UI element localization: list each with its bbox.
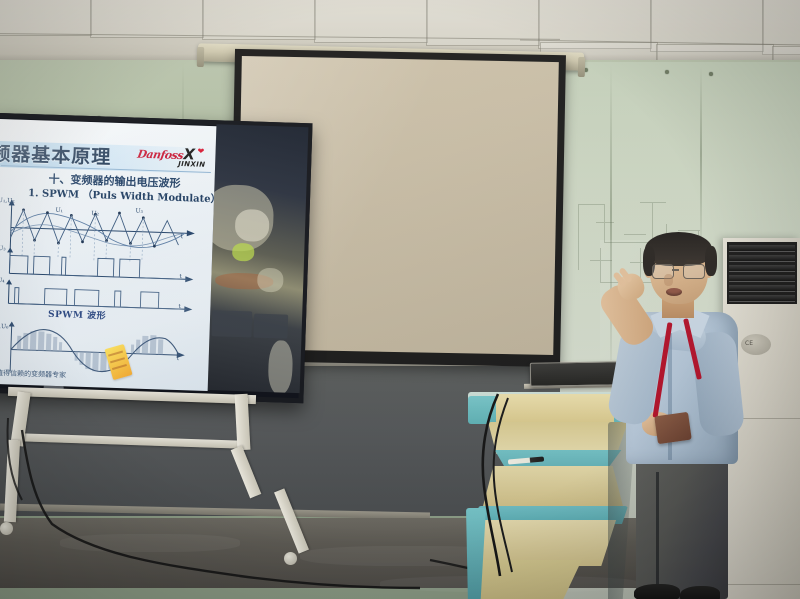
spwm-lower-pulse-chart <box>0 279 216 318</box>
caster-wheel-right <box>284 552 297 565</box>
wave-mark-1: U₁ <box>55 207 63 214</box>
laptop[interactable] <box>530 361 624 387</box>
axis-label-time-2: t <box>179 273 182 280</box>
flat-panel-display[interactable]: 变频器基本原理 Danfoss X ❤ JINXIN 十、变频器的输出电压波形 … <box>0 113 313 403</box>
wave-mark-2: U₂ <box>91 210 99 217</box>
presentation-slide: 变频器基本原理 Danfoss X ❤ JINXIN 十、变频器的输出电压波形 … <box>0 119 216 391</box>
classroom-scene: 变频器基本原理 Danfoss X ❤ JINXIN 十、变频器的输出电压波形 … <box>0 0 800 599</box>
jinxin-wordmark: JINXIN <box>178 160 206 169</box>
presenter-shoe-right <box>680 586 720 599</box>
presenter <box>612 236 747 599</box>
presenter-badge-wallet <box>654 412 692 444</box>
jinxin-logo: X ❤ JINXIN <box>177 145 212 172</box>
axis-label-time-4: t <box>177 355 180 362</box>
presenter-trousers <box>636 454 728 599</box>
tv-glass-reflection <box>208 124 309 393</box>
caster-wheel-left <box>0 522 13 535</box>
presenter-mouth <box>666 288 682 296</box>
presenter-shoe-left <box>634 584 680 599</box>
slide-footer: 伊盾口—值得信赖的变频器专家 <box>0 367 66 380</box>
presenter-glasses-right-lens <box>683 264 705 279</box>
axis-label-time-3: t <box>178 303 181 310</box>
wave-mark-3: U₃ <box>135 208 143 215</box>
axis-label-time-1: t <box>181 233 184 240</box>
spwm-caption: SPWM 波形 <box>48 307 106 322</box>
jinxin-heart-icon: ❤ <box>197 147 204 154</box>
